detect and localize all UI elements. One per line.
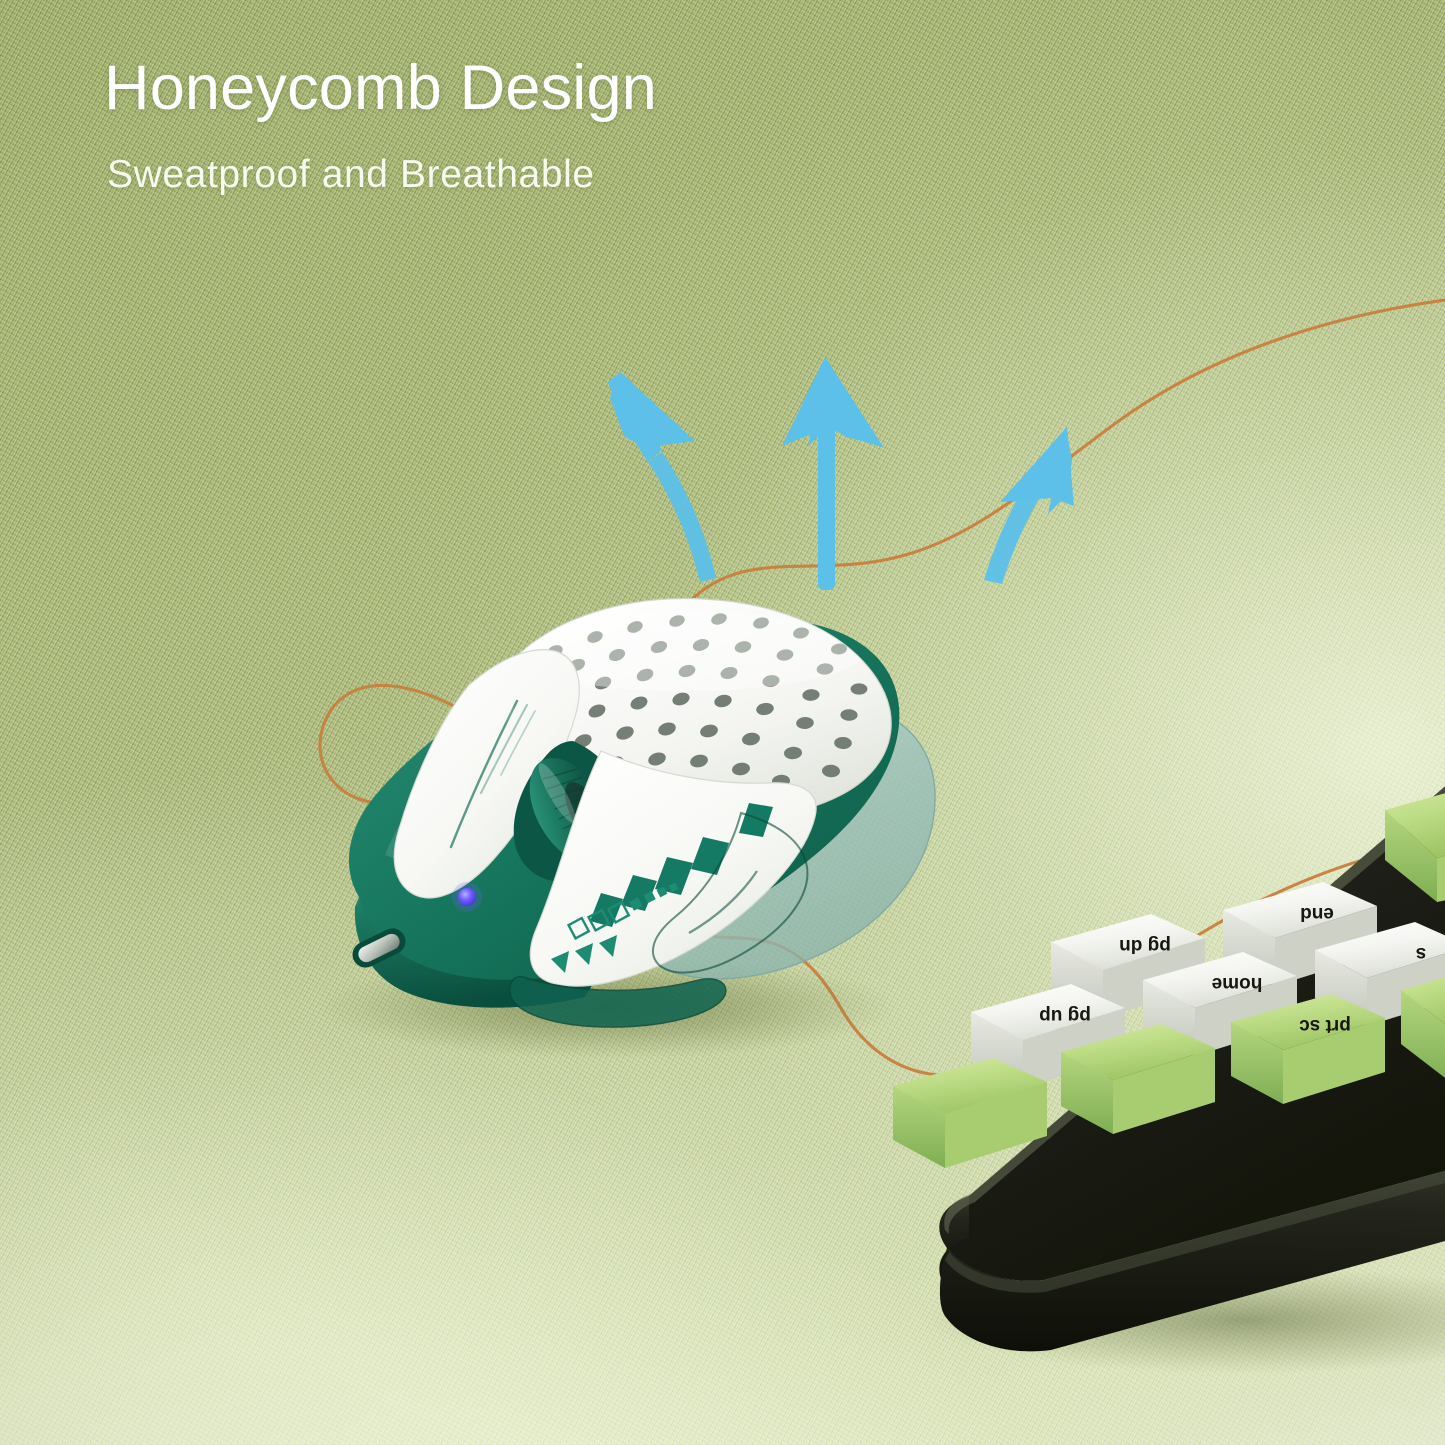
airflow-arrow-right <box>984 427 1074 584</box>
mechanical-keyboard: pg dn end pg up home <box>845 760 1445 1400</box>
keycap-legend: end <box>1300 903 1334 924</box>
keycap-legend: home <box>1212 973 1263 994</box>
keycap-legend: prt sc <box>1299 1015 1351 1036</box>
product-marketing-image: Honeycomb Design Sweatproof and Breathab… <box>0 0 1445 1445</box>
keycap-legend: pg dn <box>1119 935 1171 956</box>
keycap-legend: s <box>1416 943 1427 964</box>
keycap-legend: pg up <box>1039 1005 1091 1026</box>
airflow-arrow-left <box>608 371 716 582</box>
